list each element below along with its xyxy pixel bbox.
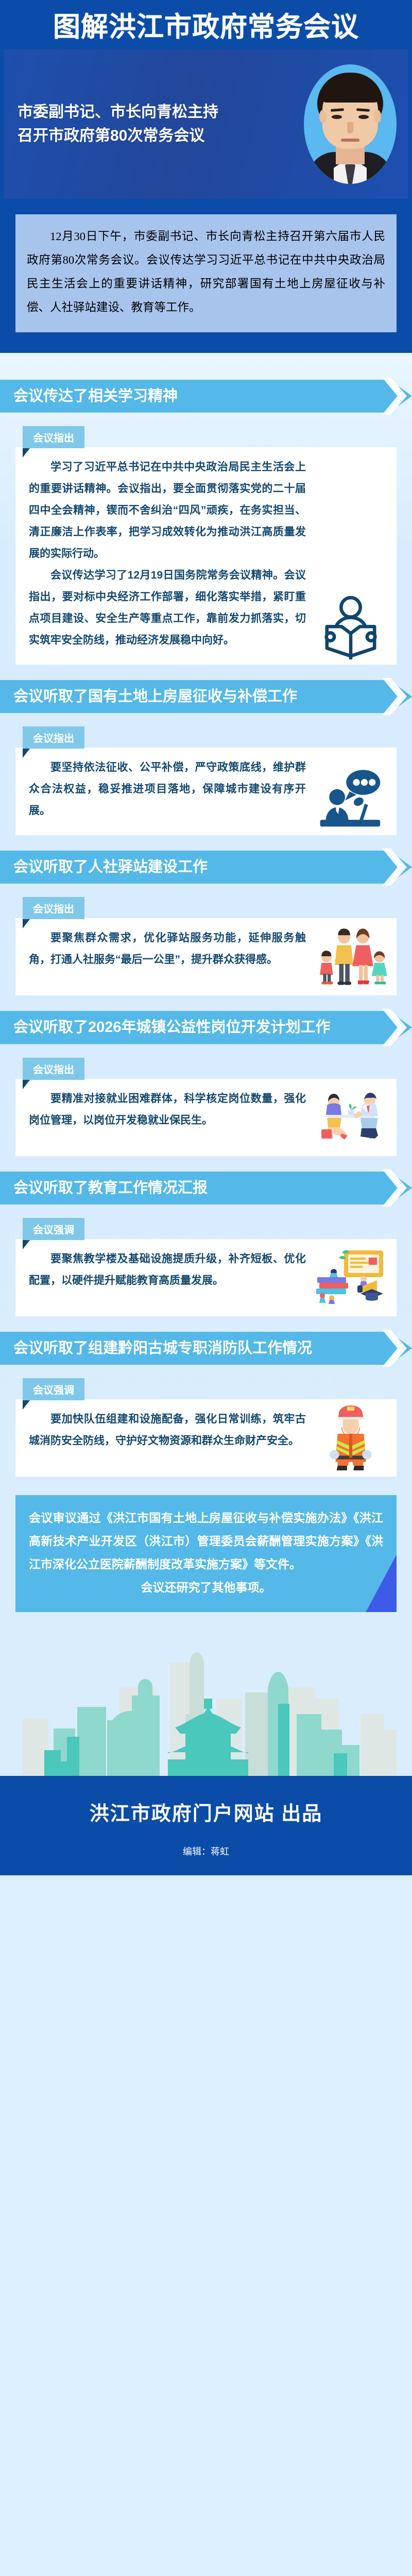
- quote-panel-6: 要加快队伍组建和设施配备，强化日常训练，筑牢古城消防安全防线，守护好文物资源和群…: [15, 1399, 397, 1477]
- summary-line-2: 会议还研究了其他事项。: [29, 1576, 383, 1599]
- quote-paragraph-5: 要聚焦教学楼及基础设施提质升级，补齐短板、优化配置，以硬件提升赋能教育高质量发展…: [29, 1248, 383, 1292]
- avatar: [304, 64, 397, 184]
- page-footer: 洪江市政府门户网站 出品 编辑：蒋虹: [0, 1776, 412, 1875]
- page-title-bar: 图解洪江市政府常务会议: [0, 0, 412, 49]
- page-title: 图解洪江市政府常务会议: [53, 5, 359, 44]
- intro-paragraph: 12月30日下午，市委副书记、市长向青松主持召开第六届市人民政府第80次常务会议…: [15, 214, 397, 332]
- infographic-page: 图解洪江市政府常务会议 市委副书记、市长向青松主持 召开市政府第80次常务会议: [0, 0, 412, 1875]
- section-heading-1: 会议传达了相关学习精神: [0, 380, 412, 413]
- hero-headline: 市委副书记、市长向青松主持 召开市政府第80次常务会议: [4, 100, 304, 148]
- intro-section: 12月30日下午，市委副书记、市长向青松主持召开第六届市人民政府第80次常务会议…: [0, 202, 412, 353]
- quote-tag-6: 会议强调: [23, 1378, 84, 1400]
- quote-panel-1: 学习了习近平总书记在中共中央政治局民主生活会上的重要讲话精神。会议指出，要全面贯…: [15, 447, 397, 665]
- summary-line-1: 会议审议通过《洪江市国有土地上房屋征收与补偿实施办法》《洪江高新技术产业开发区（…: [29, 1506, 383, 1576]
- quote-block-1: 会议指出 学习了习近平总书记在中共中央政治局民主生活会上的重要讲话精神。会议指出…: [15, 426, 397, 665]
- footer-brand: 洪江市政府门户网站 出品: [0, 1798, 412, 1826]
- quote-block-2: 会议指出 要坚持依法征收、公平补偿，严守政策底线，维护群众合法权益，稳妥推进项目…: [15, 726, 397, 835]
- quote-tag-5: 会议强调: [23, 1218, 84, 1240]
- quote-paragraph-2: 要坚持依法征收、公平补偿，严守政策底线，维护群众合法权益，稳妥推进项目落地，保障…: [29, 757, 383, 822]
- section-header-4: 会议听取了2026年城镇公益性岗位开发计划工作: [0, 1011, 412, 1044]
- section-heading-4: 会议听取了2026年城镇公益性岗位开发计划工作: [0, 1011, 412, 1044]
- section-heading-2: 会议听取了国有土地上房屋征收与补偿工作: [0, 680, 412, 713]
- quote-block-3: 会议指出 要聚焦群众需求，优化驿站服务功能，延伸服务触角，打通人社服务“最后一公…: [15, 897, 397, 995]
- section-header-6: 会议听取了组建黔阳古城专职消防队工作情况: [0, 1332, 412, 1365]
- section-header-3: 会议听取了人社驿站建设工作: [0, 851, 412, 884]
- quote-tag-2: 会议指出: [23, 726, 84, 749]
- quote-paragraph-4: 要精准对接就业困难群体，科学核定岗位数量，强化岗位管理，以岗位开发稳就业保民生。: [29, 1088, 383, 1131]
- hero-headline-line1: 市委副书记、市长向青松主持: [18, 104, 218, 121]
- section-header-1: 会议传达了相关学习精神: [0, 380, 412, 413]
- hero-panel: 市委副书记、市长向青松主持 召开市政府第80次常务会议: [4, 49, 408, 199]
- section-header-2: 会议听取了国有土地上房屋征收与补偿工作: [0, 680, 412, 713]
- quote-tag-3: 会议指出: [23, 897, 84, 919]
- quote-paragraph-6: 要加快队伍组建和设施配备，强化日常训练，筑牢古城消防安全防线，守护好文物资源和群…: [29, 1409, 383, 1452]
- avatar-portrait: [304, 64, 397, 184]
- quote-paragraph-1a: 学习了习近平总书记在中共中央政治局民主生活会上的重要讲话精神。会议指出，要全面贯…: [29, 456, 383, 565]
- quote-panel-5: 要聚焦教学楼及基础设施提质升级，补齐短板、优化配置，以硬件提升赋能教育高质量发展…: [15, 1239, 397, 1316]
- quote-paragraph-1b: 会议传达学习了12月19日国务院常务会议精神。会议指出，要对标中央经济工作部署，…: [29, 565, 383, 651]
- summary-section: 会议审议通过《洪江市国有土地上房屋征收与补偿实施办法》《洪江高新技术产业开发区（…: [0, 1477, 412, 1612]
- content-area: 会议传达了相关学习精神 会议指出 学习了习近平总书记在中共中央政治局民主生活会上…: [0, 353, 412, 1776]
- section-header-5: 会议听取了教育工作情况汇报: [0, 1172, 412, 1205]
- quote-block-6: 会议强调 要加快队伍组建和设施配备，强化日常训练，筑牢古城消防安全防线，守护好文…: [15, 1378, 397, 1477]
- quote-tag-4: 会议指出: [23, 1058, 84, 1080]
- quote-tag-1: 会议指出: [23, 426, 84, 448]
- hero-headline-line2: 召开市政府第80次常务会议: [18, 124, 304, 148]
- hero-section: 市委副书记、市长向青松主持 召开市政府第80次常务会议: [0, 49, 412, 202]
- quote-paragraph-3: 要聚焦群众需求，优化驿站服务功能，延伸服务触角，打通人社服务“最后一公里”，提升…: [29, 927, 383, 971]
- section-heading-3: 会议听取了人社驿站建设工作: [0, 851, 412, 884]
- quote-panel-4: 要精准对接就业困难群体，科学核定岗位数量，强化岗位管理，以岗位开发稳就业保民生。: [15, 1079, 397, 1156]
- footer-editor: 编辑：蒋虹: [0, 1844, 412, 1858]
- section-heading-6: 会议听取了组建黔阳古城专职消防队工作情况: [0, 1332, 412, 1365]
- quote-panel-3: 要聚焦群众需求，优化驿站服务功能，延伸服务触角，打通人社服务“最后一公里”，提升…: [15, 918, 397, 995]
- section-heading-5: 会议听取了教育工作情况汇报: [0, 1172, 412, 1205]
- summary-box: 会议审议通过《洪江市国有土地上房屋征收与补偿实施办法》《洪江高新技术产业开发区（…: [15, 1495, 397, 1612]
- city-skyline-illustration: [0, 1626, 412, 1776]
- quote-panel-2: 要坚持依法征收、公平补偿，严守政策底线，维护群众合法权益，稳妥推进项目落地，保障…: [15, 748, 397, 835]
- quote-block-5: 会议强调 要聚焦教学楼及基础设施提质升级，补齐短板、优化配置，以硬件提升赋能教育…: [15, 1218, 397, 1316]
- quote-block-4: 会议指出 要精准对接就业困难群体，科学核定岗位数量，强化岗位管理，以岗位开发稳就…: [15, 1058, 397, 1156]
